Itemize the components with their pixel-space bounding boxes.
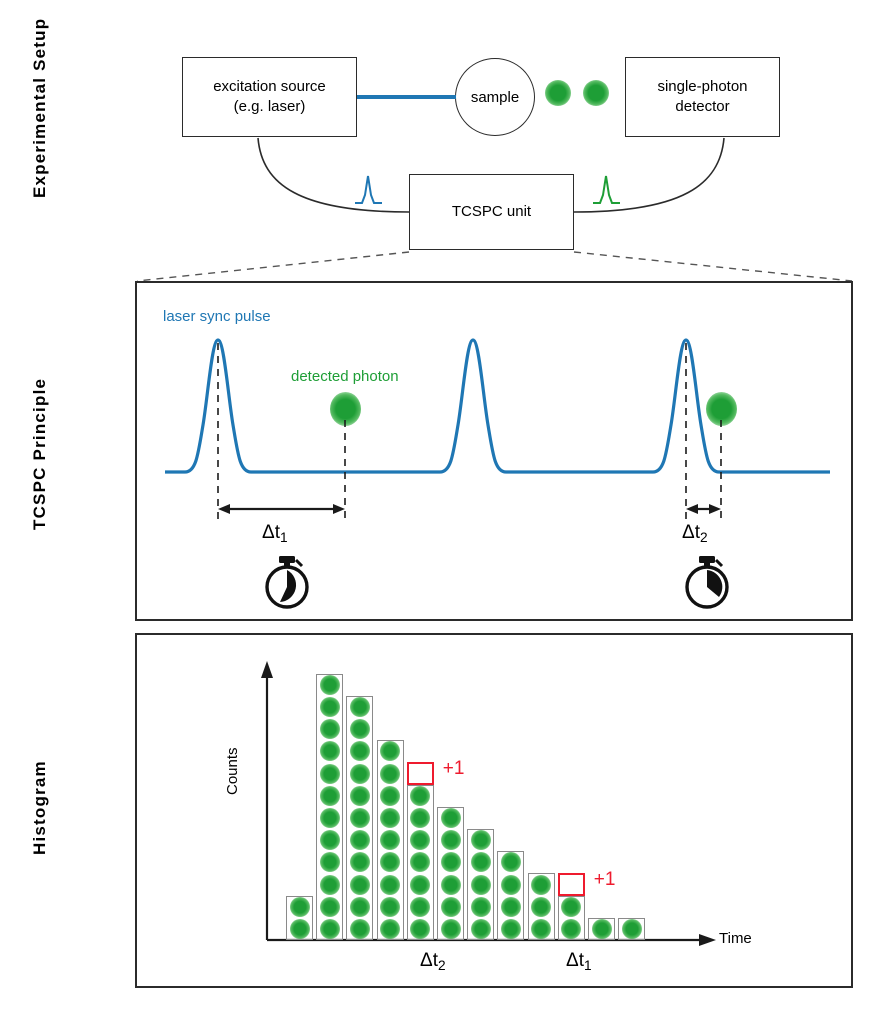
histogram-highlight-box [407,762,434,784]
histogram-count-marker [320,719,340,739]
histogram-count-marker [471,919,491,939]
histogram-count-marker [441,875,461,895]
histogram-count-marker [531,875,551,895]
histogram-count-marker [320,875,340,895]
histogram-count-marker [350,897,370,917]
histogram-count-marker [380,919,400,939]
histogram-count-marker [531,897,551,917]
histogram-highlight-box [558,873,585,895]
histogram-increment-label: +1 [443,758,465,780]
histogram-count-marker [320,808,340,828]
histogram-count-marker [350,808,370,828]
histogram-count-marker [410,897,430,917]
histogram-count-marker [320,786,340,806]
histogram-tick-dt2-sub: 2 [438,958,446,973]
histogram-count-marker [501,875,521,895]
histogram-count-marker [350,719,370,739]
histogram-count-marker [622,919,642,939]
histogram-count-marker [320,764,340,784]
histogram-count-marker [501,897,521,917]
histogram-count-marker [380,764,400,784]
histogram-x-axis-arrow [699,934,716,946]
histogram-count-marker [350,875,370,895]
histogram-count-marker [410,786,430,806]
histogram-count-marker [320,852,340,872]
histogram-y-axis-arrow [261,661,273,678]
histogram-count-marker [380,875,400,895]
histogram-count-marker [441,830,461,850]
histogram-tick-dt2-main: Δt [420,950,438,971]
histogram-count-marker [290,897,310,917]
figure-root: Experimental Setup TCSPC Principle Histo… [0,0,893,1024]
histogram-count-marker [320,675,340,695]
histogram-count-marker [471,852,491,872]
histogram-count-marker [592,919,612,939]
histogram-count-marker [441,808,461,828]
histogram-count-marker [290,919,310,939]
histogram-count-marker [320,897,340,917]
histogram-tick-dt1-main: Δt [566,950,584,971]
histogram-count-marker [380,808,400,828]
histogram-count-marker [350,919,370,939]
histogram-tick-dt1: Δt1 [566,950,592,973]
histogram-tick-dt1-sub: 1 [584,958,592,973]
histogram-count-marker [441,919,461,939]
histogram-count-marker [471,830,491,850]
histogram-count-marker [350,786,370,806]
histogram-count-marker [501,919,521,939]
histogram-count-marker [561,897,581,917]
histogram-increment-label: +1 [594,869,616,891]
histogram-count-marker [441,897,461,917]
histogram-count-marker [441,852,461,872]
histogram-count-marker [320,741,340,761]
histogram-count-marker [320,697,340,717]
histogram-count-marker [471,897,491,917]
histogram-count-marker [471,875,491,895]
histogram-count-marker [380,897,400,917]
histogram-count-marker [350,830,370,850]
histogram-count-marker [350,764,370,784]
histogram-count-marker [410,875,430,895]
histogram-count-marker [320,830,340,850]
histogram-count-marker [350,697,370,717]
histogram-count-marker [320,919,340,939]
histogram-count-marker [380,786,400,806]
histogram-count-marker [531,919,551,939]
histogram-tick-dt2: Δt2 [420,950,446,973]
